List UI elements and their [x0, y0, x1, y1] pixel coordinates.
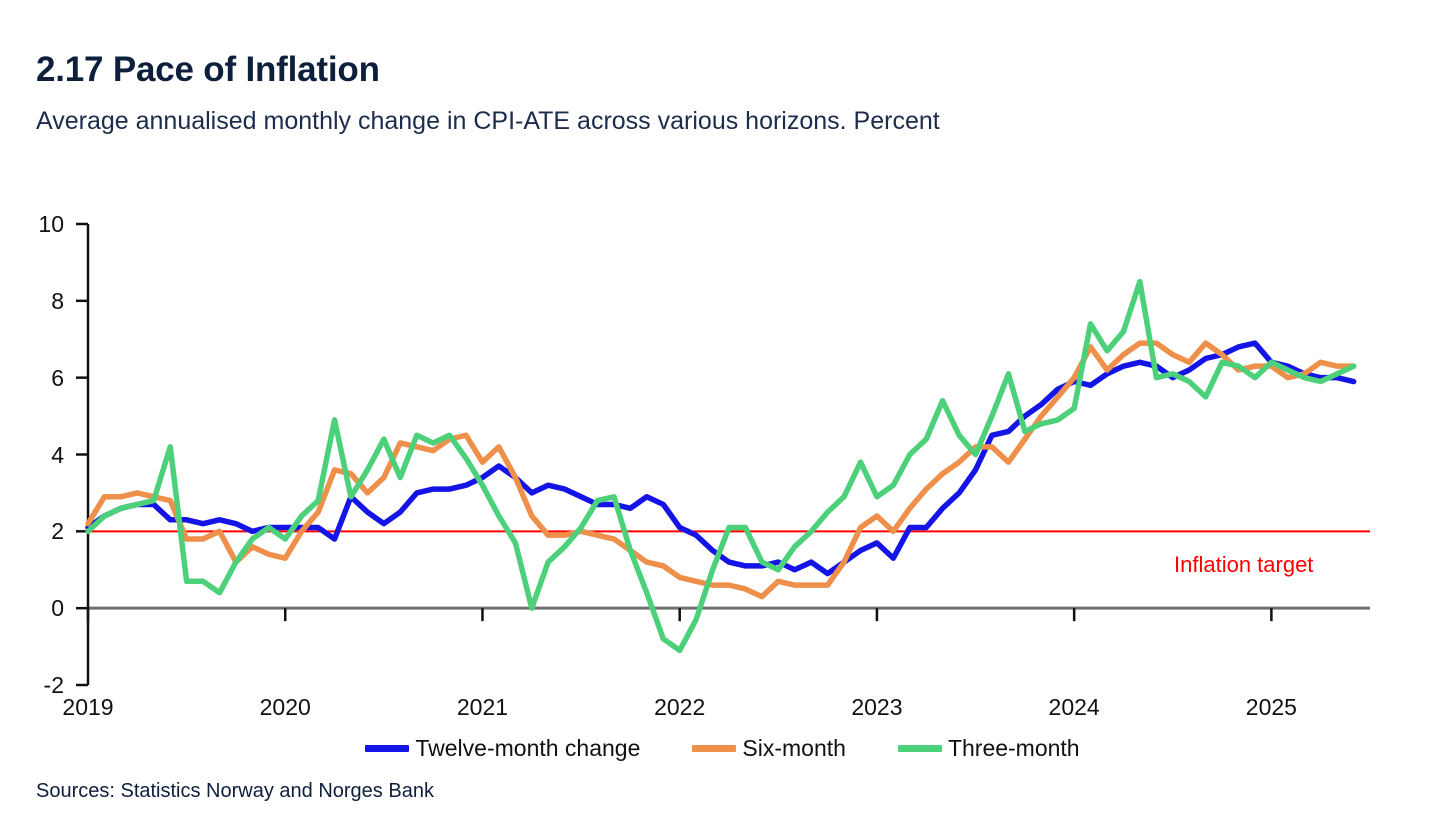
x-tick-label: 2025 — [1216, 694, 1326, 721]
chart-source: Sources: Statistics Norway and Norges Ba… — [36, 780, 434, 803]
inflation-target-annotation: Inflation target — [1174, 552, 1313, 578]
y-tick-label: 10 — [4, 211, 64, 238]
y-tick-label: 0 — [4, 595, 64, 622]
x-tick-label: 2019 — [33, 694, 143, 721]
legend-swatch-icon — [898, 745, 942, 752]
x-tick-label: 2022 — [625, 694, 735, 721]
chart-figure: 2.17 Pace of Inflation Average annualise… — [0, 0, 1445, 819]
legend-swatch-icon — [692, 745, 736, 752]
legend-swatch-icon — [365, 745, 409, 752]
x-tick-label: 2020 — [230, 694, 340, 721]
y-tick-label: 8 — [4, 288, 64, 315]
series-line-3 — [88, 282, 1354, 651]
y-tick-label: 2 — [4, 518, 64, 545]
x-tick-label: 2024 — [1019, 694, 1129, 721]
legend-label: Twelve-month change — [415, 735, 640, 762]
chart-legend: Twelve-month changeSix-monthThree-month — [0, 735, 1445, 762]
y-tick-label: 6 — [4, 365, 64, 392]
legend-label: Six-month — [742, 735, 846, 762]
x-tick-label: 2021 — [427, 694, 537, 721]
legend-label: Three-month — [948, 735, 1080, 762]
legend-item-3[interactable]: Three-month — [898, 735, 1080, 762]
legend-item-2[interactable]: Six-month — [692, 735, 846, 762]
legend-item-1[interactable]: Twelve-month change — [365, 735, 640, 762]
x-tick-label: 2023 — [822, 694, 932, 721]
y-tick-label: 4 — [4, 442, 64, 469]
